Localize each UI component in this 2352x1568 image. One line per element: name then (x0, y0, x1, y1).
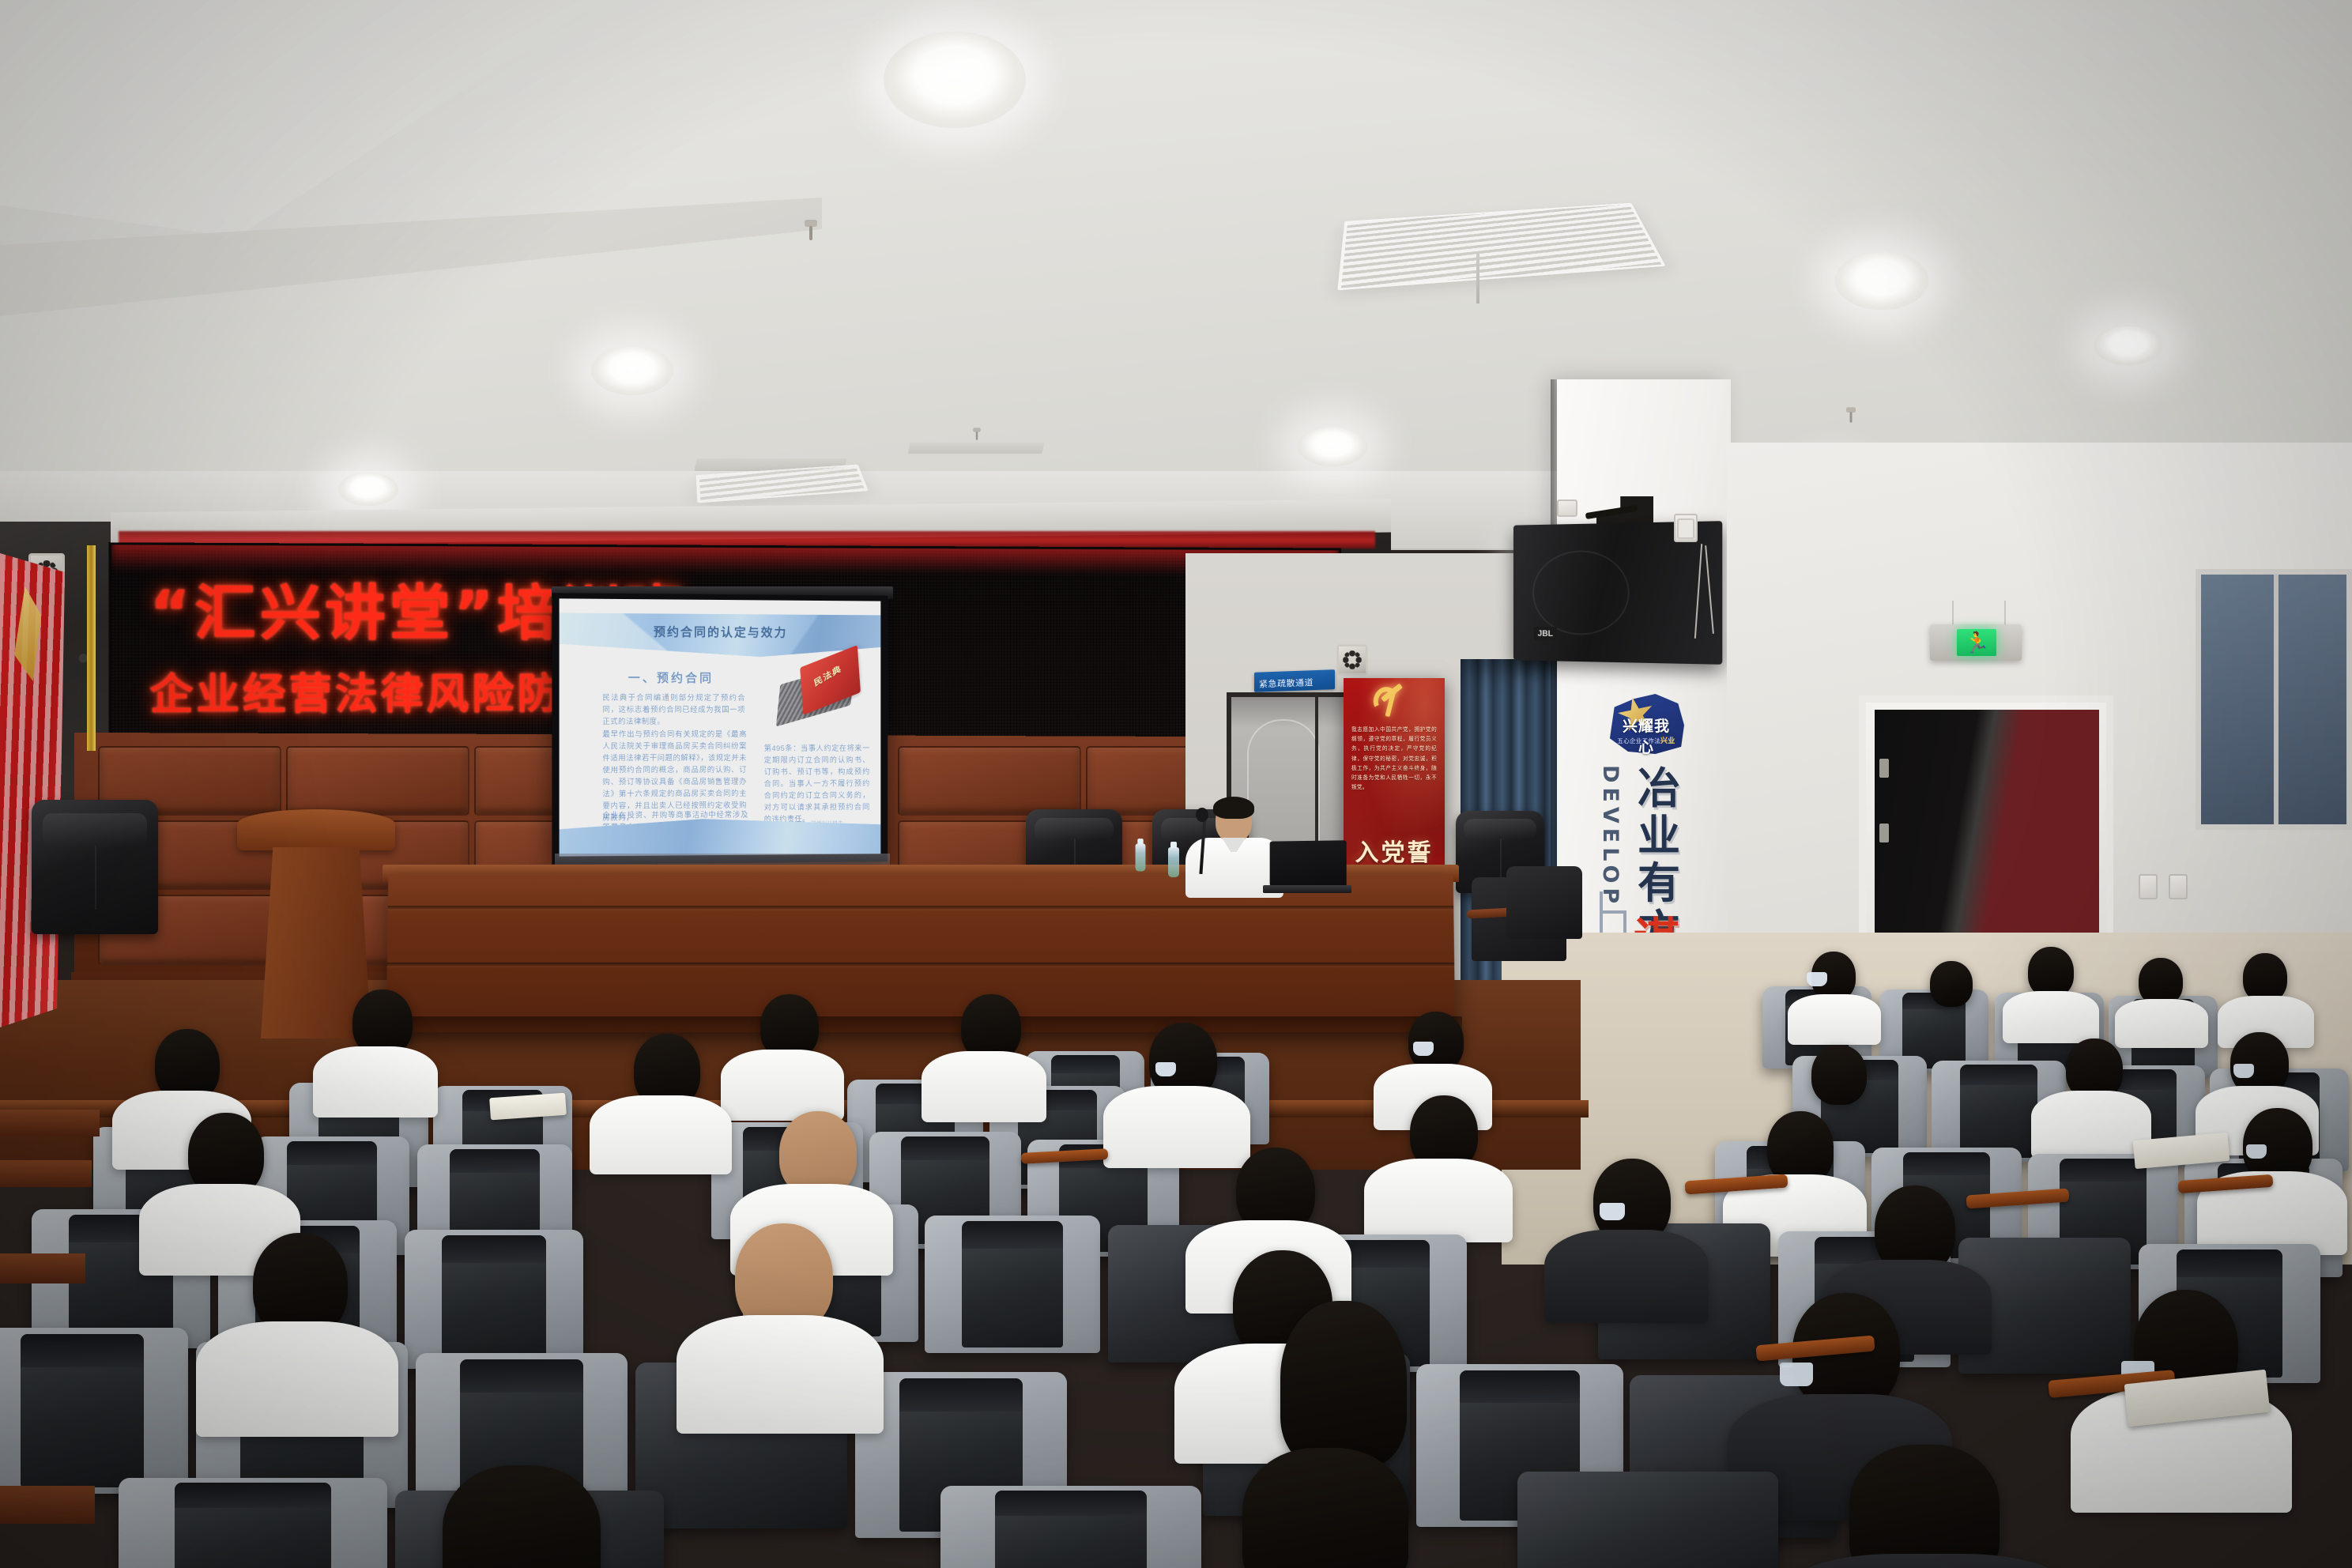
cpc-emblem-icon (1369, 684, 1412, 722)
audience-head (1811, 1045, 1867, 1105)
slide-article-text: 第495条：当事人约定在将来一定期限内订立合同的认购书、订购书、预订书等，构成预… (764, 742, 870, 825)
audience-shoulders-dark (1786, 1554, 2071, 1568)
civil-code-book-image (775, 646, 867, 722)
water-bottle-presenter[interactable] (1168, 847, 1179, 877)
audience-seat (925, 1216, 1100, 1353)
audience-head (2243, 953, 2287, 1002)
audience-shoulders (922, 1051, 1046, 1122)
light-switch-plate-2[interactable] (2169, 874, 2188, 899)
lectern-top (237, 809, 395, 850)
downlight-5 (338, 473, 398, 506)
table-groove-1 (388, 906, 1454, 910)
door-hinge-top (1879, 759, 1889, 778)
audience-seat-dark (1517, 1472, 1778, 1568)
badge-sub-right: 兴业 (1660, 737, 1675, 744)
audience-shoulders (721, 1050, 844, 1121)
presenter-laptop[interactable] (1263, 841, 1348, 893)
audience-head (1930, 961, 1973, 1007)
executive-chair-left[interactable] (32, 800, 158, 934)
microphone-head (1196, 808, 1208, 822)
aisle-step-4 (0, 1486, 95, 1524)
fire-alarm-sounder-right (1336, 644, 1367, 675)
exit-sign-wire-left (1952, 601, 1954, 628)
head-table-shadow (379, 1016, 1462, 1043)
jbl-loudspeaker-main (1513, 521, 1722, 665)
face-mask (1600, 1203, 1625, 1220)
aisle-step-2 (0, 1160, 92, 1187)
audience-shoulders (1364, 1159, 1513, 1242)
wood-frame-chair-2[interactable] (1506, 866, 1582, 939)
badge-sub-text: 五心企业工作法兴业 (1613, 735, 1679, 745)
audience-seat (940, 1486, 1201, 1568)
audience-shoulders (2003, 991, 2099, 1043)
speaker-cone (1532, 550, 1630, 635)
right-window (2196, 569, 2352, 830)
wall-socket-plate-2[interactable] (1557, 499, 1577, 517)
audience-shoulders (590, 1095, 732, 1174)
face-mask (1155, 1062, 1176, 1076)
downlight-3 (591, 346, 673, 395)
face-mask (1413, 1042, 1434, 1056)
slide-subtitle: 一、预约合同 (628, 669, 714, 686)
audience-shoulders-dark (1544, 1230, 1709, 1323)
face-mask (1807, 972, 1827, 986)
audience-head (2028, 947, 2074, 997)
head-table (386, 874, 1456, 1032)
audience-head-long-hair (443, 1465, 601, 1568)
aisle-step-1 (0, 1110, 100, 1136)
audience-shoulders (1788, 994, 1881, 1045)
sprinkler-head-3 (973, 428, 981, 440)
sprinkler-head-2 (1846, 407, 1856, 423)
downlight-1 (884, 32, 1026, 128)
slide-paragraph-1: 民法典于合同编通则部分规定了预约合同，这标志着预约合同已经成为我国一项正式的法律… (602, 692, 745, 727)
wall-socket[interactable] (1677, 518, 1694, 539)
running-man-icon (1957, 629, 1996, 656)
leather-pad (898, 746, 1081, 816)
laptop-screen (1270, 840, 1347, 887)
downlight-6 (2094, 326, 2162, 365)
water-bottle-3[interactable] (1136, 844, 1146, 872)
audience-shoulders (1103, 1086, 1250, 1168)
audience-head-long-hair (1280, 1301, 1407, 1467)
audience-shoulders (196, 1321, 398, 1437)
face-mask (1780, 1363, 1813, 1386)
sprinkler-head-1 (805, 220, 817, 240)
audience-head-long-hair (1242, 1448, 1408, 1568)
projection-screen: 预约合同的认定与效力 一、预约合同 民法典于合同编通则部分规定了预约合同，这标志… (552, 593, 888, 865)
evacuation-route-sign[interactable]: 紧急疏散通道 (1254, 669, 1335, 692)
face-mask (2246, 1144, 2267, 1159)
badge-sub-left: 五心企业工作法 (1617, 737, 1660, 744)
audience-shoulders (2115, 999, 2208, 1048)
presenter-hair (1213, 797, 1254, 819)
audience-seat (405, 1230, 583, 1369)
flag-pole (87, 545, 96, 751)
ac-vent-ribbon (1476, 253, 1479, 303)
aisle-step-3 (0, 1253, 85, 1283)
leather-pad (286, 746, 469, 816)
face-mask (2233, 1064, 2254, 1078)
evacuation-route-sign-label: 紧急疏散通道 (1259, 676, 1314, 690)
company-brand-badge: 兴耀我心 五心企业工作法兴业 (1608, 694, 1684, 754)
audience-shoulders (313, 1046, 438, 1118)
audience-seat (119, 1478, 387, 1568)
door-hinge-bottom (1879, 824, 1889, 842)
downlight-4 (1298, 427, 1367, 466)
audience-seat (0, 1328, 188, 1494)
slide-content: 预约合同的认定与效力 一、预约合同 民法典于合同编通则部分规定了预约合同，这标志… (560, 598, 881, 856)
light-switch-plate[interactable] (2139, 874, 2158, 899)
pillar-english-word: DEVELOP (1598, 765, 1623, 908)
exit-sign-wire-right (2004, 601, 2006, 628)
party-oath-banner: 我志愿加入中国共产党，拥护党的纲领，遵守党的章程，履行党员义务，执行党的决定，严… (1344, 678, 1445, 893)
audience-head (2139, 958, 2183, 1005)
laptop-keyboard (1263, 885, 1351, 893)
slide-title: 预约合同的认定与效力 (654, 623, 788, 640)
emergency-exit-sign (1930, 624, 2022, 661)
audience-head-long-hair (1849, 1445, 2000, 1568)
audience-shoulders (677, 1315, 884, 1434)
ceiling-slot-2 (908, 443, 1045, 454)
table-groove-2 (387, 963, 1454, 967)
party-oath-text: 我志愿加入中国共产党，拥护党的纲领，遵守党的章程，履行党员义务，执行党的决定，严… (1351, 726, 1437, 793)
conference-hall-photo: “汇兴讲堂”培训班 企业经营法律风险防控知识 预约合同的认定与效力 一、预约合同… (0, 0, 2352, 1568)
downlight-2 (1835, 251, 1928, 310)
